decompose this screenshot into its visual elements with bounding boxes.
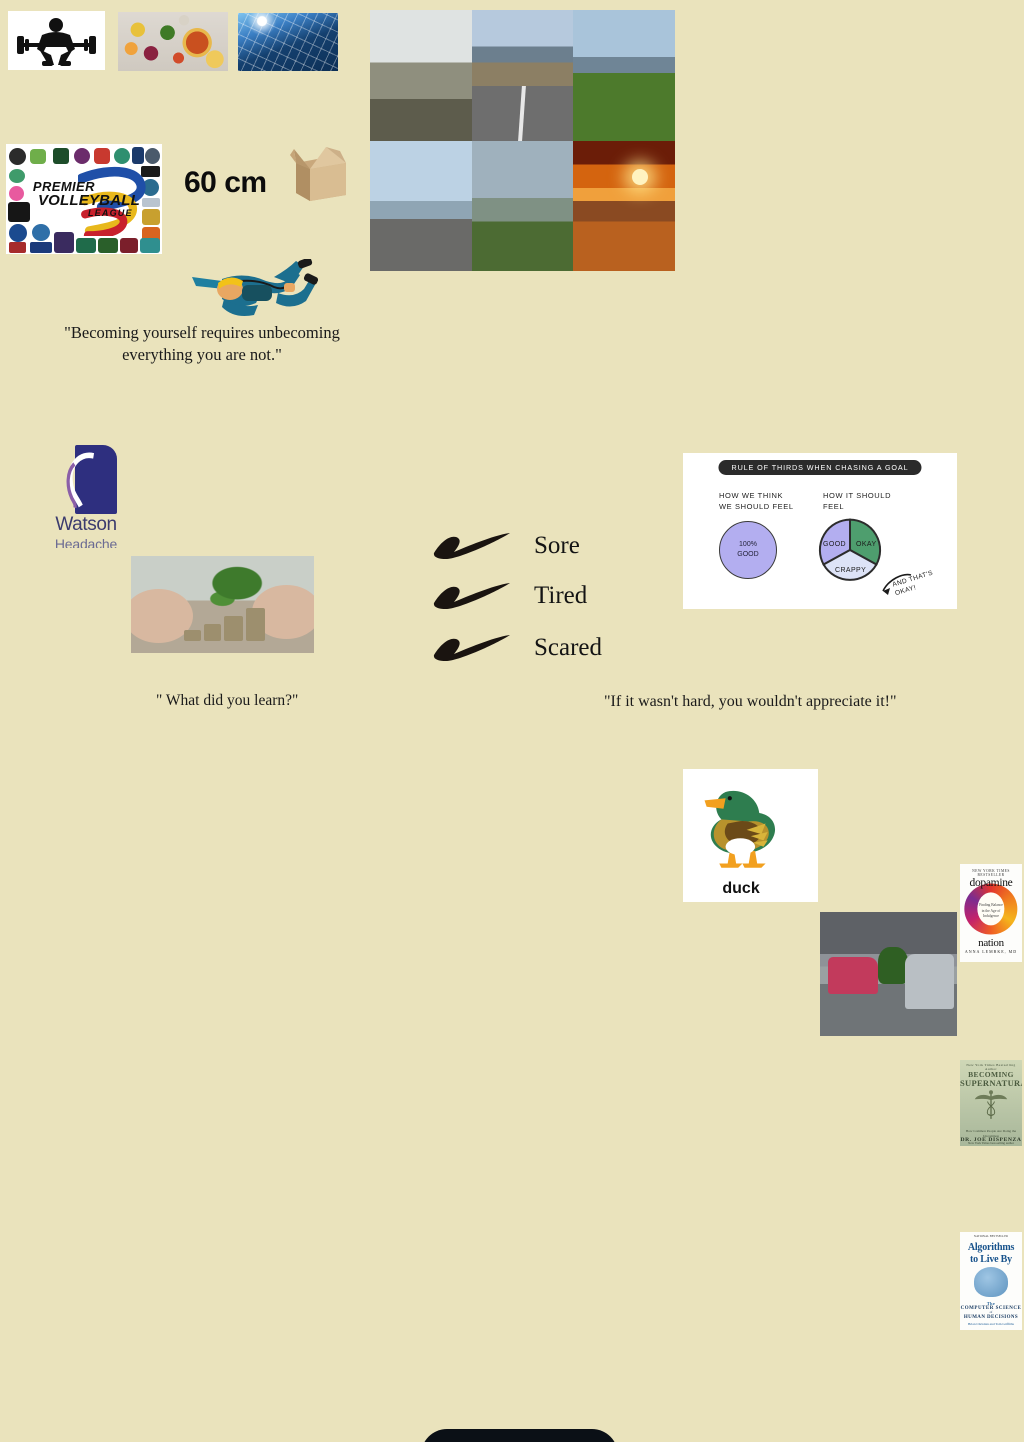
caduceus-icon — [974, 1086, 1009, 1124]
algorithms-authors: Brian Christian and Tom Griffiths — [960, 1322, 1022, 1326]
photo-coastal-bridge-road — [370, 141, 472, 272]
infographic-left-heading: HOW WE THINK WE SHOULD FEEL — [719, 491, 794, 513]
book-cover-becoming-supernatural: New York Times Bestselling Author BECOMI… — [960, 1060, 1022, 1146]
nike-swoosh-icon — [432, 532, 512, 560]
photo-black-cabin-fjord — [573, 10, 675, 141]
coin-stack-1 — [184, 630, 200, 642]
photo-sunset-over-water — [573, 141, 675, 272]
dopamine-author: ANNA LEMBKE, MD — [960, 949, 1022, 954]
infographic-title: RULE OF THIRDS WHEN CHASING A GOAL — [718, 460, 921, 475]
illustration-cardboard-box — [288, 143, 350, 203]
quote-line-1: "Becoming yourself requires unbecoming — [24, 322, 380, 344]
left-heading-line2: WE SHOULD FEEL — [719, 502, 794, 511]
photo-weightlifter-silhouette — [8, 11, 105, 70]
pvl-line-3: LEAGUE — [23, 209, 145, 218]
mantra-row-sore: Sore — [432, 532, 580, 560]
brain-icon — [974, 1267, 1009, 1296]
watson-name: Watson — [40, 514, 132, 536]
left-circle-line2: GOOD — [737, 551, 758, 558]
coin-stack-2 — [204, 624, 220, 641]
dopamine-title-bottom: nation — [960, 937, 1022, 949]
vision-board: PREMIER VOLLEYBALL LEAGUE — [0, 0, 1024, 721]
logo-premier-volleyball-league: PREMIER VOLLEYBALL LEAGUE — [6, 144, 162, 254]
pie-slice-label-good: GOOD — [823, 541, 846, 548]
logo-watson-headache: Watson Headache — [40, 443, 132, 548]
mantra-row-tired: Tired — [432, 582, 587, 610]
quote-line-2: everything you are not." — [24, 344, 380, 366]
skydiver-icon — [188, 259, 318, 331]
pvl-wordmark: PREMIER VOLLEYBALL LEAGUE — [23, 180, 145, 218]
book-cover-algorithms-to-live-by: NATIONAL BESTSELLER Algorithms to Live B… — [960, 1232, 1022, 1330]
left-circle-line1: 100% — [739, 541, 757, 548]
nike-swoosh-icon — [432, 634, 512, 662]
quote-if-it-wasnt-hard: "If it wasn't hard, you wouldn't appreci… — [604, 693, 1024, 711]
book-cover-dopamine-nation: NEW YORK TIMES BESTSELLER dopamine Findi… — [960, 864, 1022, 962]
algorithms-sub-line2: HUMAN DECISIONS — [960, 1315, 1022, 1320]
infographic-right-heading: HOW IT SHOULD FEEL — [823, 491, 891, 513]
garage-car-silver — [905, 954, 954, 1009]
photo-healthy-food-spread — [118, 12, 228, 71]
infographic-rule-of-thirds: RULE OF THIRDS WHEN CHASING A GOAL HOW W… — [683, 453, 957, 609]
watson-wordmark: Watson Headache — [40, 514, 132, 548]
coin-stack-3 — [224, 616, 242, 641]
algorithms-title-bottom: to Live By — [960, 1254, 1022, 1265]
pvl-line-1: PREMIER — [23, 180, 145, 193]
coin-stack-4 — [246, 608, 264, 641]
mantra-label-scared: Scared — [534, 634, 602, 662]
garage-car-red — [828, 957, 877, 994]
pie-slice-label-okay: OKAY — [856, 541, 877, 548]
quote-becoming-yourself: "Becoming yourself requires unbecoming e… — [24, 322, 380, 367]
photo-open-highway — [472, 10, 574, 141]
right-heading-line1: HOW IT SHOULD — [823, 491, 891, 500]
pie-slice-label-crappy: CRAPPY — [835, 567, 866, 574]
weightlifter-icon — [8, 11, 105, 70]
nike-swoosh-icon — [432, 582, 512, 610]
right-heading-line2: FEEL — [823, 502, 844, 511]
duck-icon — [694, 777, 799, 870]
sticker-duck: duck — [683, 769, 818, 902]
algorithms-eyebrow: NATIONAL BESTSELLER — [960, 1234, 1022, 1238]
card-year-2026: 2026 — [421, 1429, 618, 1442]
illustration-skydiver — [188, 259, 318, 331]
left-heading-line1: HOW WE THINK — [719, 491, 783, 500]
photo-hands-coins-sapling — [131, 556, 314, 653]
pie-100-percent-good: 100% GOOD — [719, 521, 777, 579]
duck-caption: duck — [683, 880, 799, 898]
watson-head-profile-icon — [64, 451, 103, 508]
mantra-label-tired: Tired — [534, 582, 587, 610]
label-sixty-cm: 60 cm — [184, 166, 284, 202]
mantra-row-scared: Scared — [432, 634, 602, 662]
algorithms-sub-of: of — [960, 1310, 1022, 1314]
watson-sub: Headache — [40, 536, 132, 548]
photo-winding-coast-road — [472, 141, 574, 272]
infographic-annotation: AND THAT'S OKAY! — [892, 565, 953, 599]
mantra-label-sore: Sore — [534, 532, 580, 560]
dopamine-subtitle: Finding Balance in the Age of Indulgence — [977, 903, 1004, 919]
quote-what-did-you-learn: " What did you learn?" — [156, 692, 416, 710]
photo-carport-two-cars — [820, 912, 957, 1036]
garage-bush — [878, 947, 908, 984]
algorithms-title-top: Algorithms — [960, 1242, 1022, 1253]
dopamine-eyebrow: NEW YORK TIMES BESTSELLER — [960, 869, 1022, 877]
supernatural-author-sub: New York Times best-selling author — [960, 1141, 1022, 1145]
dopamine-title-top: dopamine — [960, 877, 1022, 889]
photo-grid-iceland — [370, 10, 675, 271]
box-icon — [288, 143, 350, 203]
photo-solar-panels — [238, 13, 338, 71]
photo-gravel-road-hillside — [370, 10, 472, 141]
pvl-line-2: VOLLEYBALL — [23, 193, 145, 208]
